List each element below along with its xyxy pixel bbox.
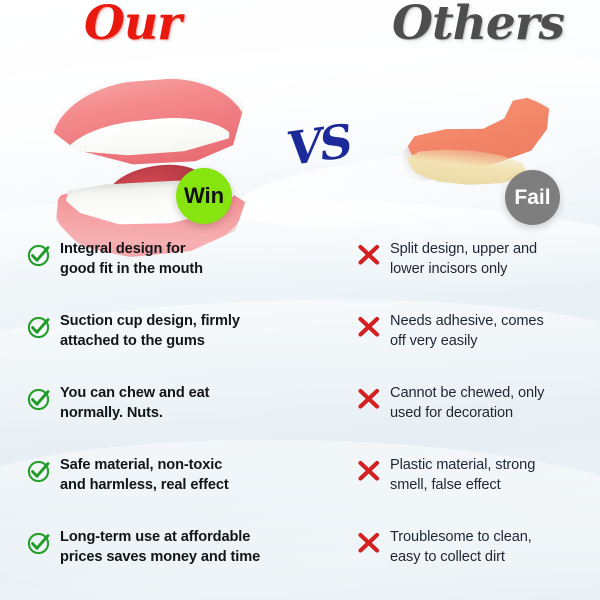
check-circle-icon: [26, 312, 60, 340]
list-item: Needs adhesive, comes off very easily: [356, 312, 596, 384]
list-item-line1: Safe material, non-toxic: [60, 456, 229, 476]
list-item-line1: Long-term use at affordable: [60, 528, 260, 548]
vs-label: VS: [284, 114, 354, 176]
list-item: Plastic material, strong smell, false ef…: [356, 456, 596, 528]
list-item-line1: Troublesome to clean,: [390, 528, 532, 548]
list-item-line2: attached to the gums: [60, 332, 240, 352]
check-circle-icon: [26, 456, 60, 484]
cross-icon: [356, 240, 390, 268]
cross-icon: [356, 384, 390, 412]
cross-icon: [356, 528, 390, 556]
list-item-line2: easy to collect dirt: [390, 548, 532, 568]
check-circle-icon: [26, 528, 60, 556]
list-item-line2: good fit in the mouth: [60, 260, 203, 280]
list-item: Suction cup design, firmly attached to t…: [26, 312, 326, 384]
list-item-text: Troublesome to clean, easy to collect di…: [390, 528, 532, 567]
fail-badge: Fail: [505, 170, 560, 225]
list-item-line2: used for decoration: [390, 404, 544, 424]
check-circle-icon: [26, 384, 60, 412]
comparison-infographic: Our Others Win Fail VS Integral design: [0, 0, 600, 600]
cross-icon: [356, 456, 390, 484]
list-item-line1: Suction cup design, firmly: [60, 312, 240, 332]
list-item-line2: lower incisors only: [390, 260, 537, 280]
list-item-line2: smell, false effect: [390, 476, 535, 496]
cross-icon: [356, 312, 390, 340]
list-item: Troublesome to clean, easy to collect di…: [356, 528, 596, 600]
list-item-text: Plastic material, strong smell, false ef…: [390, 456, 535, 495]
list-item-line1: Cannot be chewed, only: [390, 384, 544, 404]
list-item-line2: prices saves money and time: [60, 548, 260, 568]
list-item-line2: and harmless, real effect: [60, 476, 229, 496]
list-item-text: You can chew and eat normally. Nuts.: [60, 384, 209, 423]
list-item: Integral design for good fit in the mout…: [26, 240, 326, 312]
list-item-text: Suction cup design, firmly attached to t…: [60, 312, 240, 351]
list-item-line1: Integral design for: [60, 240, 203, 260]
list-item-text: Cannot be chewed, only used for decorati…: [390, 384, 544, 423]
list-item: Safe material, non-toxic and harmless, r…: [26, 456, 326, 528]
list-item: Split design, upper and lower incisors o…: [356, 240, 596, 312]
list-item-line2: off very easily: [390, 332, 544, 352]
feature-comparison-lists: Integral design for good fit in the mout…: [0, 240, 600, 600]
list-item-text: Split design, upper and lower incisors o…: [390, 240, 537, 279]
list-item-line1: You can chew and eat: [60, 384, 209, 404]
list-item-text: Long-term use at affordable prices saves…: [60, 528, 260, 567]
others-title: Others: [392, 0, 564, 51]
list-item-line1: Needs adhesive, comes: [390, 312, 544, 332]
our-title: Our: [84, 0, 181, 51]
pros-column: Integral design for good fit in the mout…: [26, 240, 326, 600]
check-circle-icon: [26, 240, 60, 268]
list-item-text: Needs adhesive, comes off very easily: [390, 312, 544, 351]
cons-column: Split design, upper and lower incisors o…: [356, 240, 596, 600]
list-item-line1: Split design, upper and: [390, 240, 537, 260]
list-item: Long-term use at affordable prices saves…: [26, 528, 326, 600]
list-item-line2: normally. Nuts.: [60, 404, 209, 424]
list-item: You can chew and eat normally. Nuts.: [26, 384, 326, 456]
list-item-line1: Plastic material, strong: [390, 456, 535, 476]
list-item: Cannot be chewed, only used for decorati…: [356, 384, 596, 456]
list-item-text: Safe material, non-toxic and harmless, r…: [60, 456, 229, 495]
list-item-text: Integral design for good fit in the mout…: [60, 240, 203, 279]
win-badge: Win: [176, 168, 232, 224]
